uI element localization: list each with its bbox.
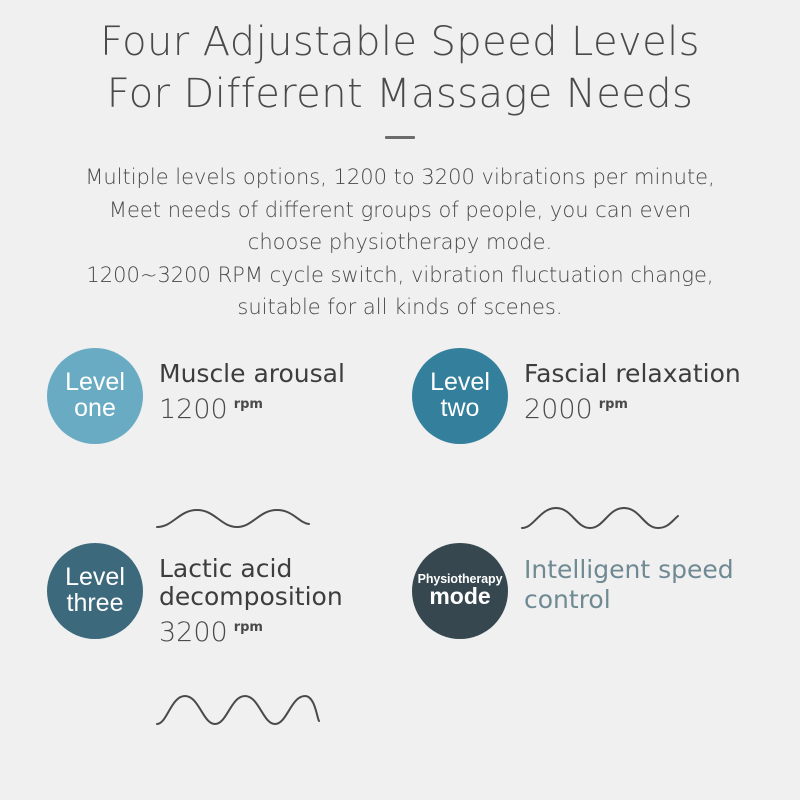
level-two-badge-line-1: Level bbox=[430, 370, 490, 396]
intro-line-3: choose physiotherapy mode. bbox=[0, 226, 800, 259]
header: Four Adjustable Speed Levels For Differe… bbox=[0, 0, 800, 139]
level-two-title: Fascial relaxation bbox=[524, 360, 741, 388]
level-three-badge-line-1: Level bbox=[65, 565, 125, 591]
level-three-badge-line-2: three bbox=[67, 591, 124, 617]
physiotherapy-badge-line-2: mode bbox=[429, 585, 490, 608]
intro-paragraph: Multiple levels options, 1200 to 3200 vi… bbox=[0, 161, 800, 324]
level-card-one: Level one Muscle arousal 1200rpm bbox=[35, 348, 400, 543]
physiotherapy-text: Intelligent speed control bbox=[508, 543, 734, 615]
speed-level-grid: Level one Muscle arousal 1200rpm Level bbox=[0, 348, 800, 738]
level-two-rpm: 2000rpm bbox=[524, 394, 741, 425]
level-one-rpm-value: 1200 bbox=[159, 394, 228, 425]
level-two-rpm-value: 2000 bbox=[524, 394, 593, 425]
physiotherapy-title-line-2: control bbox=[524, 585, 734, 615]
level-one-header: Level one Muscle arousal 1200rpm bbox=[47, 348, 400, 444]
level-three-header: Level three Lactic acid decomposition 32… bbox=[47, 543, 400, 648]
level-three-text: Lactic acid decomposition 3200rpm bbox=[143, 543, 343, 648]
intro-line-4: 1200~3200 RPM cycle switch, vibration fl… bbox=[0, 259, 800, 292]
level-one-badge: Level one bbox=[47, 348, 143, 444]
level-two-text: Fascial relaxation 2000rpm bbox=[508, 348, 741, 425]
level-three-rpm-unit: rpm bbox=[234, 620, 263, 635]
level-two-header: Level two Fascial relaxation 2000rpm bbox=[412, 348, 765, 444]
level-card-three: Level three Lactic acid decomposition 32… bbox=[35, 543, 400, 738]
level-one-rpm-unit: rpm bbox=[234, 397, 263, 412]
level-three-title-line-2: decomposition bbox=[159, 583, 343, 611]
page-title-line-2: For Different Massage Needs bbox=[0, 68, 800, 120]
level-two-badge: Level two bbox=[412, 348, 508, 444]
intro-line-5: suitable for all kinds of scenes. bbox=[0, 291, 800, 324]
intro-line-1: Multiple levels options, 1200 to 3200 vi… bbox=[0, 161, 800, 194]
level-one-text: Muscle arousal 1200rpm bbox=[143, 348, 345, 425]
level-one-waveform-icon bbox=[153, 497, 313, 537]
level-card-physiotherapy: Physiotherapy mode Intelligent speed con… bbox=[400, 543, 765, 738]
level-two-rpm-unit: rpm bbox=[599, 397, 628, 412]
infographic-page: Four Adjustable Speed Levels For Differe… bbox=[0, 0, 800, 800]
level-two-badge-line-2: two bbox=[441, 396, 480, 422]
level-one-title: Muscle arousal bbox=[159, 360, 345, 388]
level-one-rpm: 1200rpm bbox=[159, 394, 345, 425]
level-three-rpm: 3200rpm bbox=[159, 617, 343, 648]
level-two-waveform-icon bbox=[518, 497, 683, 537]
intro-line-2: Meet needs of different groups of people… bbox=[0, 194, 800, 227]
physiotherapy-title-line-1: Intelligent speed bbox=[524, 555, 734, 585]
physiotherapy-header: Physiotherapy mode Intelligent speed con… bbox=[412, 543, 765, 639]
title-divider bbox=[385, 136, 415, 139]
physiotherapy-badge: Physiotherapy mode bbox=[412, 543, 508, 639]
level-one-badge-line-2: one bbox=[74, 396, 116, 422]
level-card-two: Level two Fascial relaxation 2000rpm bbox=[400, 348, 765, 543]
level-one-badge-line-1: Level bbox=[65, 370, 125, 396]
level-three-rpm-value: 3200 bbox=[159, 617, 228, 648]
level-three-title-line-1: Lactic acid bbox=[159, 555, 343, 583]
page-title-line-1: Four Adjustable Speed Levels bbox=[0, 16, 800, 68]
level-three-waveform-icon bbox=[153, 688, 323, 732]
level-three-badge: Level three bbox=[47, 543, 143, 639]
